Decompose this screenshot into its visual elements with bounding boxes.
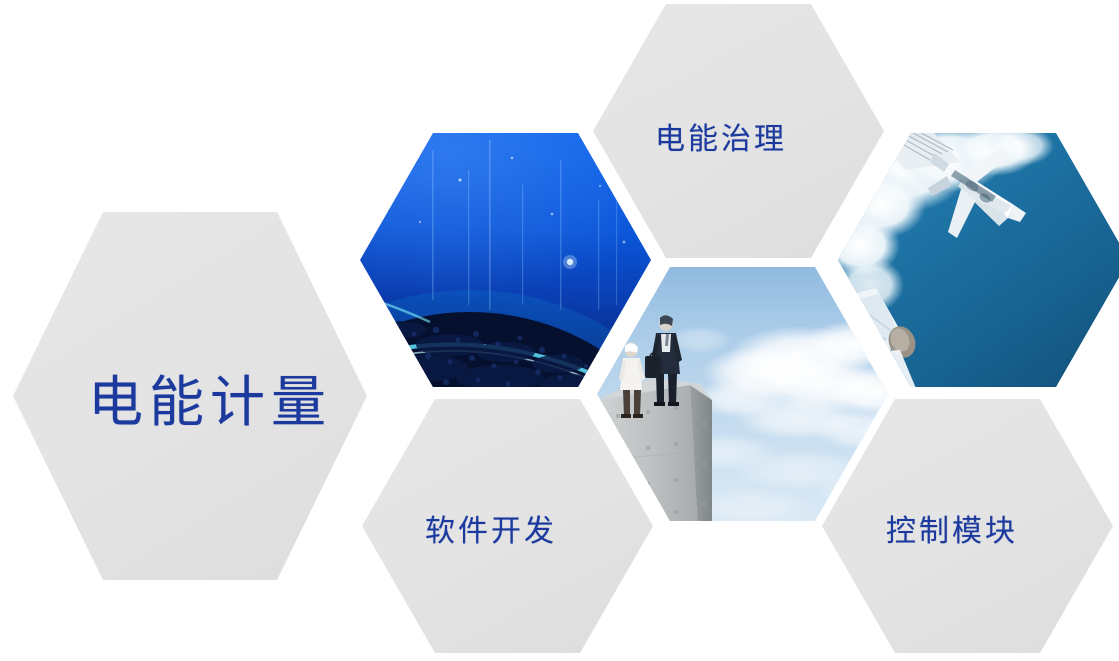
hex-software-development-shape	[362, 399, 653, 653]
hex-control-module-shape	[822, 399, 1113, 653]
hex-software-development[interactable]	[362, 399, 653, 653]
hex-control-module[interactable]	[822, 399, 1113, 653]
hex-main-shape	[13, 212, 367, 580]
hexagon-cluster-svg	[0, 0, 1119, 661]
hex-main-power-metering[interactable]	[13, 212, 367, 580]
hex-power-governance-shape	[593, 4, 884, 258]
infographic-canvas: 电能计量 电能治理 软件开发 控制模块	[0, 0, 1119, 661]
hex-power-governance[interactable]	[593, 4, 884, 258]
